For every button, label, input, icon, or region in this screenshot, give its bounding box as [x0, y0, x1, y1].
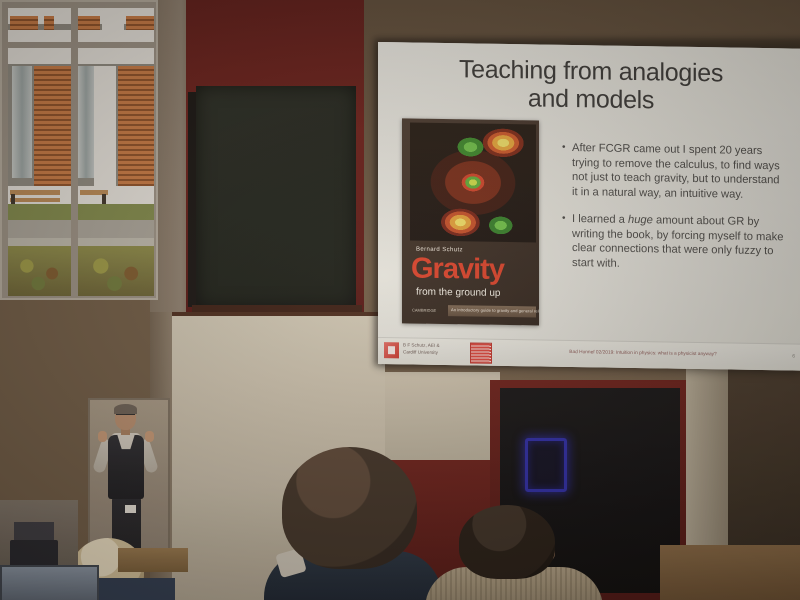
- slide-bullet-1: • After FCGR came out I spent 20 years t…: [562, 141, 784, 203]
- audience-1-head: [282, 447, 417, 569]
- window: [0, 0, 158, 300]
- presenter-hair: [114, 404, 137, 414]
- laptop: [0, 565, 99, 600]
- presenter-pocket-badge: [125, 505, 136, 513]
- book-subtitle: from the ground up: [416, 287, 501, 299]
- book-publisher: CAMBRIDGE: [412, 308, 436, 313]
- desk-surface: [95, 578, 175, 600]
- audience-member-curly-hair: [282, 447, 417, 600]
- bullet-marker: •: [562, 141, 572, 199]
- slide-bullet-2: • I learned a huge amount about GR by wr…: [562, 212, 784, 274]
- window-pane-top-left: [8, 8, 71, 42]
- window-pane-bottom-left: [8, 48, 71, 296]
- window-glazing: [2, 2, 156, 298]
- bullet-marker: •: [562, 212, 572, 270]
- blue-glow-rectangle: [525, 438, 567, 492]
- book-cover-band: An introductory guide to gravity and gen…: [448, 305, 536, 317]
- slide-bullet-2-text: I learned a huge amount about GR by writ…: [572, 212, 784, 274]
- book-title: Gravity: [411, 255, 504, 285]
- green-chalkboard: [196, 86, 356, 308]
- book-cover-artwork: [410, 123, 536, 243]
- book-band-text: An introductory guide to gravity and gen…: [451, 307, 539, 314]
- footer-affiliation-line-2: Cardiff University: [403, 349, 465, 357]
- slide-footer-event: Bad Honnef 02/2019: Intuition in physics…: [518, 349, 768, 358]
- front-table: [118, 548, 188, 572]
- bullet-2-text-before: I learned a: [572, 213, 628, 226]
- slide-title-line-1: Teaching from analogies: [406, 54, 776, 88]
- slide-footer-affiliation: B F Schutz, AEI & Cardiff University: [403, 342, 465, 357]
- book-cover-image: Bernard Schutz Gravity from the ground u…: [402, 118, 539, 325]
- window-pane-bottom-right: [78, 48, 154, 296]
- slide-page-number: 6: [792, 354, 795, 360]
- window-pane-top-right: [78, 8, 154, 42]
- lecture-hall-photo: Teaching from analogies and models Berna…: [0, 0, 800, 600]
- audience-member-sweater: [455, 505, 565, 600]
- glasses-icon: [116, 414, 135, 418]
- presenter-left-hand: [98, 431, 107, 442]
- aei-logo-icon: [384, 342, 399, 358]
- slide-title-line-2: and models: [406, 82, 776, 116]
- slide-bullet-1-text: After FCGR came out I spent 20 years try…: [572, 141, 784, 203]
- presenter-right-hand: [145, 431, 154, 442]
- av-equipment-upper: [14, 522, 54, 540]
- slide-title: Teaching from analogies and models: [406, 54, 776, 116]
- presentation-slide: Teaching from analogies and models Berna…: [378, 42, 800, 371]
- cardiff-university-logo-icon: [470, 342, 492, 363]
- slide-bullet-list: • After FCGR came out I spent 20 years t…: [562, 141, 784, 287]
- floor: [660, 545, 800, 600]
- bullet-2-emphasis: huge: [628, 214, 653, 226]
- chalkboard-side-edge: [188, 92, 196, 307]
- audience-2-head: [459, 505, 555, 579]
- bullet-1-text-before: After FCGR came out I spent 20 years try…: [572, 142, 780, 200]
- projection-screen: Teaching from analogies and models Berna…: [378, 42, 800, 371]
